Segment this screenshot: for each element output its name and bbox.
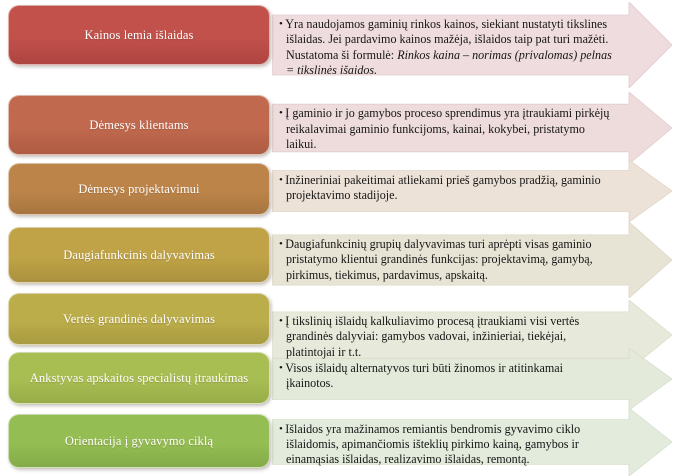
- description-text: • Išlaidos yra mažinamos remiantis bendr…: [272, 408, 672, 472]
- description-arrow-3: • Inžineriniai pakeitimai atliekami prie…: [272, 160, 672, 222]
- description-text: • Į gaminio ir jo gamybos proceso sprend…: [272, 92, 672, 157]
- bullet-glyph: •: [279, 174, 283, 186]
- bullet-glyph: •: [279, 18, 283, 30]
- principle-label-text: Dėmesys klientams: [89, 118, 188, 133]
- description-text: • Daugiafunkcinių grupių dalyvavimas tur…: [272, 222, 672, 287]
- principle-label-text: Orientacija į gyvavymo ciklą: [65, 434, 213, 449]
- principle-label-box-4[interactable]: Daugiafunkcinis dalyvavimas: [8, 227, 270, 283]
- principle-label-box-6[interactable]: Ankstyvas apskaitos specialistų įtraukim…: [8, 352, 270, 404]
- description-arrow-2: • Į gaminio ir jo gamybos proceso sprend…: [272, 92, 672, 164]
- principle-label-text: Daugiafunkcinis dalyvavimas: [63, 248, 215, 263]
- bullet-glyph: •: [279, 107, 283, 119]
- description-arrow-1: • Yra naudojamos gaminių rinkos kainos, …: [272, 2, 672, 88]
- principle-label-box-7[interactable]: Orientacija į gyvavymo ciklą: [8, 414, 270, 468]
- principle-label-text: Ankstyvas apskaitos specialistų įtraukim…: [30, 371, 248, 386]
- principle-label-box-3[interactable]: Dėmesys projektavimui: [8, 163, 270, 215]
- principle-label-box-2[interactable]: Dėmesys klientams: [8, 95, 270, 155]
- description-arrow-7: • Išlaidos yra mažinamos remiantis bendr…: [272, 408, 672, 476]
- principle-label-text: Vertės grandinės dalyvavimas: [63, 312, 215, 327]
- description-text: • Inžineriniai pakeitimai atliekami prie…: [272, 160, 672, 207]
- description-arrow-4: • Daugiafunkcinių grupių dalyvavimas tur…: [272, 222, 672, 298]
- principle-label-box-1[interactable]: Kainos lemia išlaidas: [8, 5, 270, 65]
- bullet-glyph: •: [279, 362, 283, 374]
- bullet-glyph: •: [279, 315, 283, 327]
- principle-label-box-5[interactable]: Vertės grandinės dalyvavimas: [8, 293, 270, 345]
- principle-label-text: Kainos lemia išlaidas: [84, 28, 193, 43]
- process-diagram: • Yra naudojamos gaminių rinkos kainos, …: [0, 0, 680, 476]
- bullet-glyph: •: [279, 423, 283, 435]
- description-arrow-6: • Visos išlaidų alternatyvos turi būti ž…: [272, 348, 672, 410]
- bullet-glyph: •: [279, 238, 283, 250]
- description-text: • Yra naudojamos gaminių rinkos kainos, …: [272, 2, 672, 83]
- description-text: • Visos išlaidų alternatyvos turi būti ž…: [272, 348, 672, 395]
- principle-label-text: Dėmesys projektavimui: [78, 182, 199, 197]
